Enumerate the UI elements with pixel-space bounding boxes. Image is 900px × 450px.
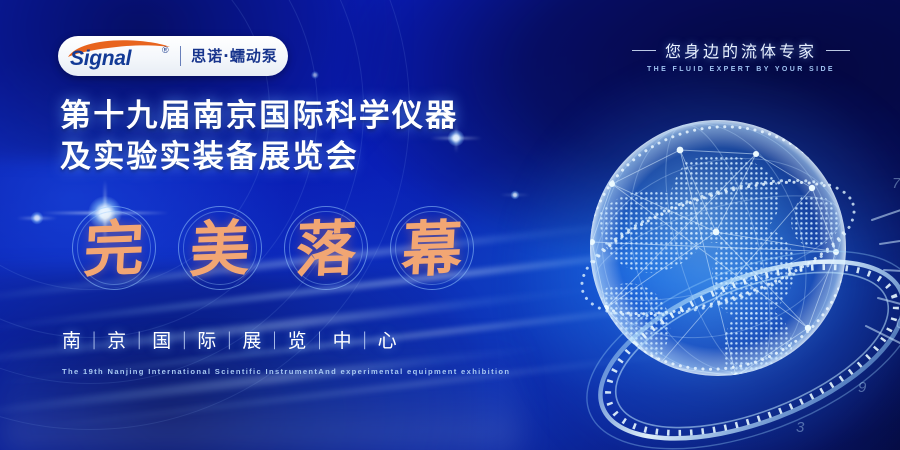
calligraphy-item: 美 [174,202,266,298]
lens-flare-small-a [15,196,59,240]
venue-char: 中 [333,326,353,353]
venue-english-subtitle: The 19th Nanjing International Scientifi… [62,367,482,376]
event-banner: 71 09 3 Signal ® 思诺·蠕动泵 您身边的流体专家 THE FLU… [0,0,900,450]
logo-chinese-name: 思诺·蠕动泵 [181,45,288,68]
event-title: 第十九届南京国际科学仪器 及实验实装备展览会 [60,96,580,178]
venue-char: 际 [197,326,217,353]
venue-separator: | [316,329,323,350]
lens-flare-small-d [300,60,330,90]
event-title-line1: 第十九届南京国际科学仪器 [60,98,458,134]
calligraphy-item: 幕 [386,202,478,298]
svg-text:3: 3 [796,419,805,436]
venue-separator: | [91,329,98,350]
logo-wordmark: Signal [70,47,131,71]
logo-divider [180,46,181,66]
venue-char: 南 [62,326,82,353]
svg-text:7: 7 [892,175,900,192]
event-title-line2: 及实验实装备展览会 [60,137,580,178]
venue-name: 南 | 京 | 国 | 际 | 展 | 览 | 中 | 心 [62,326,398,353]
venue-separator: | [362,329,369,350]
slogan-rule-right [826,50,850,51]
calligraphy-char: 落 [277,200,374,299]
venue-char: 京 [107,326,127,353]
brand-logo[interactable]: Signal ® 思诺·蠕动泵 [58,36,288,76]
venue-char: 心 [378,326,398,353]
calligraphy-item: 落 [280,202,372,298]
slogan-rule-left [632,50,656,51]
venue-char: 展 [242,326,262,353]
brand-slogan: 您身边的流体专家 THE FLUID EXPERT BY YOUR SIDE [616,38,866,73]
svg-text:9: 9 [858,379,867,396]
calligraphy-char: 美 [171,200,268,299]
calligraphy-headline: 完 美 落 幕 [68,202,478,298]
svg-text:0: 0 [896,315,900,332]
globe-svg: 71 09 3 [540,92,900,450]
logo-mark: Signal ® [58,36,180,76]
calligraphy-char: 完 [65,200,162,299]
venue-separator: | [136,329,143,350]
calligraphy-char: 幕 [383,200,480,299]
slogan-chinese-row: 您身边的流体专家 [616,38,866,62]
venue-char: 览 [287,326,307,353]
venue-char: 国 [152,326,172,353]
venue-separator: | [271,329,278,350]
venue-separator: | [226,329,233,350]
digital-globe-graphic: 71 09 3 [540,92,900,450]
calligraphy-item: 完 [68,202,160,298]
registered-trademark-icon: ® [162,45,169,55]
venue-separator: | [181,329,188,350]
slogan-chinese: 您身边的流体专家 [665,38,817,62]
slogan-english: THE FLUID EXPERT BY YOUR SIDE [616,66,866,73]
